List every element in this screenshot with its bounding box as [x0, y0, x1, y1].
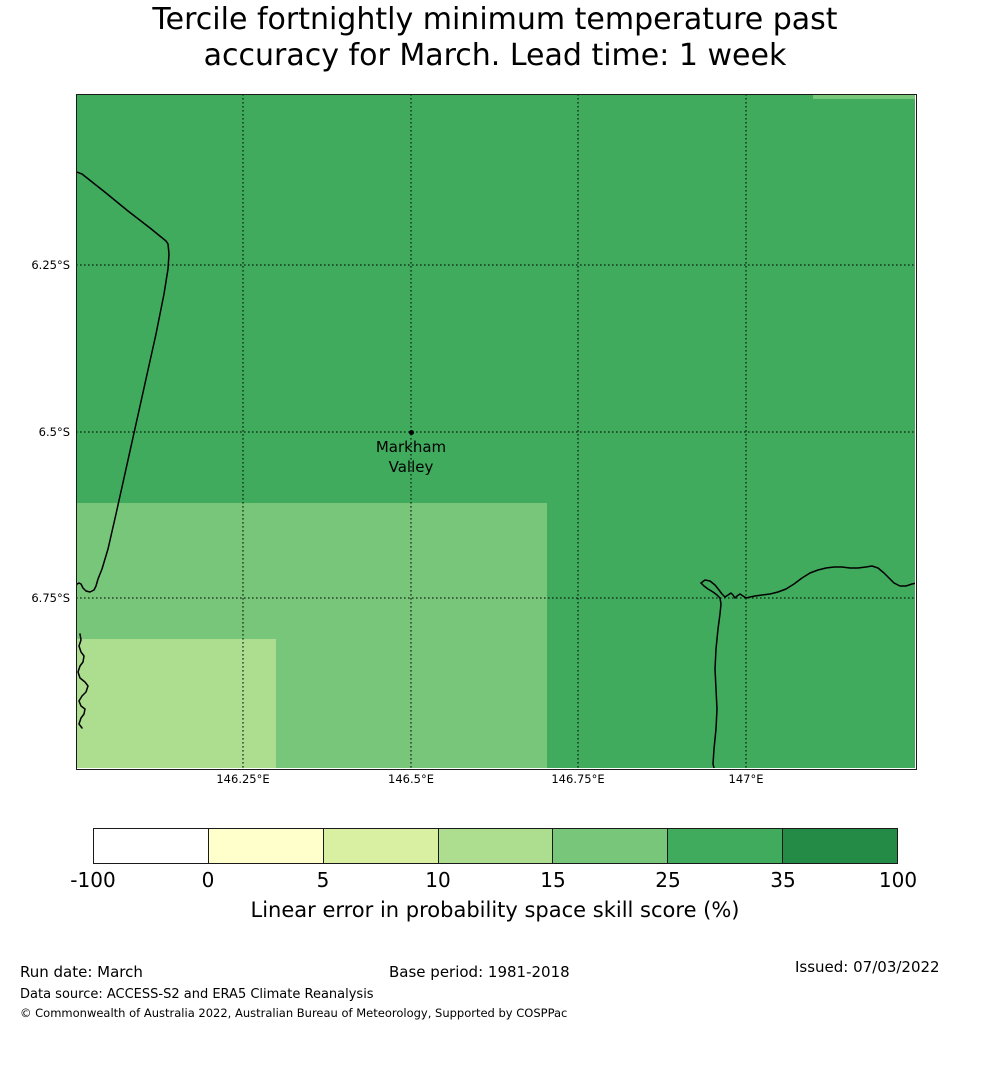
footer-run-date: Run date: March [20, 963, 143, 981]
page-title: Tercile fortnightly minimum temperature … [0, 2, 990, 74]
y-tick-label-1: 6.5°S [26, 425, 70, 439]
colorbar-segment-3 [438, 829, 553, 863]
y-tick-label-2: 6.75°S [26, 591, 70, 605]
skill-score-cells [76, 94, 915, 768]
colorbar-tick-0: -100 [70, 868, 115, 892]
x-tick-label-1: 146.5°E [388, 772, 434, 786]
x-tick-label-0: 146.25°E [216, 772, 269, 786]
x-tick-label-3: 147°E [729, 772, 764, 786]
colorbar-segment-1 [208, 829, 323, 863]
colorbar-segment-4 [552, 829, 667, 863]
colorbar-tick-6: 35 [770, 868, 795, 892]
colorbar-segment-6 [782, 829, 897, 863]
colorbar-tick-4: 15 [540, 868, 565, 892]
colorbar-tick-5: 25 [655, 868, 680, 892]
colorbar-segment-5 [667, 829, 782, 863]
colorbar[interactable] [93, 828, 898, 864]
colorbar-axis-label: Linear error in probability space skill … [0, 898, 990, 922]
colorbar-tick-1: 0 [202, 868, 215, 892]
colorbar-tick-3: 10 [425, 868, 450, 892]
footer-data-source: Data source: ACCESS-S2 and ERA5 Climate … [20, 987, 374, 1002]
colorbar-tick-7: 100 [879, 868, 917, 892]
colorbar-container[interactable]: -1000510152535100 [93, 828, 898, 864]
markham-valley-label: Markham Valley [376, 437, 446, 477]
footer-issued-date: Issued: 07/03/2022 [795, 958, 940, 976]
markham-valley-marker-dot [409, 430, 414, 435]
skill-cell-upper-right-sliver [813, 94, 915, 99]
y-tick-label-0: 6.25°S [26, 258, 70, 272]
footer-copyright: © Commonwealth of Australia 2022, Austra… [20, 1006, 567, 1020]
map-raster [76, 94, 915, 768]
footer-base-period: Base period: 1981-2018 [389, 963, 570, 981]
colorbar-tick-2: 5 [317, 868, 330, 892]
colorbar-segment-2 [323, 829, 438, 863]
map-plot-area[interactable] [76, 94, 915, 768]
x-tick-label-2: 146.75°E [551, 772, 604, 786]
colorbar-segment-0 [94, 829, 208, 863]
skill-cell-lower-left-patch [76, 639, 276, 768]
